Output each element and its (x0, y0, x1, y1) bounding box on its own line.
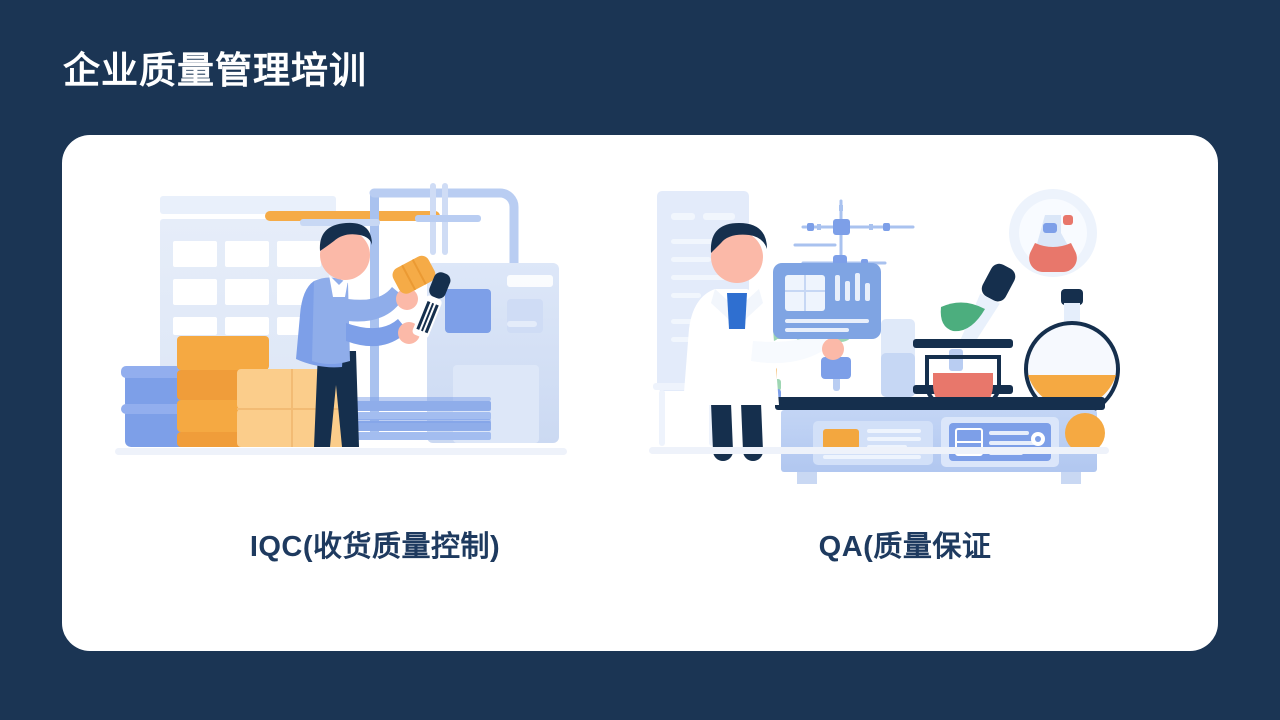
slide-root: 企业质量管理培训 (0, 0, 1280, 720)
page-title: 企业质量管理培训 (63, 51, 367, 92)
panel-qa-caption: QA(质量保证 (645, 523, 1165, 565)
laboratory-quality-assurance-illustration (645, 171, 1165, 491)
panel-iqc[interactable]: IQC(收货质量控制) (115, 171, 635, 611)
panel-iqc-caption: IQC(收货质量控制) (115, 523, 635, 565)
warehouse-incoming-inspection-illustration (115, 171, 635, 491)
content-card: IQC(收货质量控制) (62, 135, 1218, 651)
panel-qa[interactable]: QA(质量保证 (645, 171, 1165, 611)
